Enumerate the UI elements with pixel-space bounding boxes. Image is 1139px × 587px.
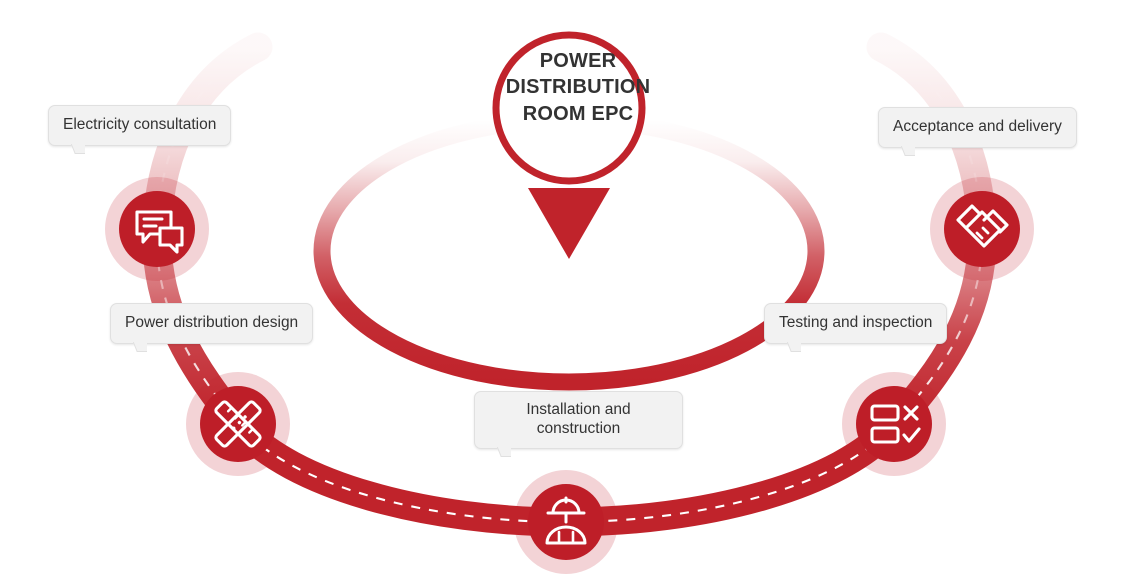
process-node-1[interactable]: [119, 191, 195, 267]
diagram-artwork: [0, 0, 1139, 587]
step-label-acceptance-and-delivery[interactable]: Acceptance and delivery: [878, 107, 1077, 148]
center-map-pin: [496, 35, 642, 259]
process-node-3[interactable]: [528, 484, 604, 560]
step-label-text: Power distribution design: [125, 314, 298, 331]
node-circle: [200, 386, 276, 462]
step-label-text: Electricity consultation: [63, 116, 216, 133]
process-node-2[interactable]: [200, 386, 276, 462]
step-label-text: Testing and inspection: [779, 314, 932, 331]
pin-tail: [528, 188, 610, 259]
node-circle: [119, 191, 195, 267]
step-label-testing-and-inspection[interactable]: Testing and inspection: [764, 303, 947, 344]
node-circle: [856, 386, 932, 462]
process-node-5[interactable]: [944, 191, 1020, 267]
step-label-electricity-consultation[interactable]: Electricity consultation: [48, 105, 231, 146]
step-label-power-distribution-design[interactable]: Power distribution design: [110, 303, 313, 344]
step-label-text-line-2: construction: [489, 420, 668, 439]
pin-circle: [496, 35, 642, 181]
node-circle: [944, 191, 1020, 267]
step-label-text: Acceptance and delivery: [893, 118, 1062, 135]
step-label-text-line-1: Installation and: [489, 401, 668, 420]
process-road-diagram: POWER DISTRIBUTION ROOM EPC Electricity …: [0, 0, 1139, 587]
process-node-4[interactable]: [856, 386, 932, 462]
step-label-installation-and-construction[interactable]: Installation and construction: [474, 391, 683, 449]
